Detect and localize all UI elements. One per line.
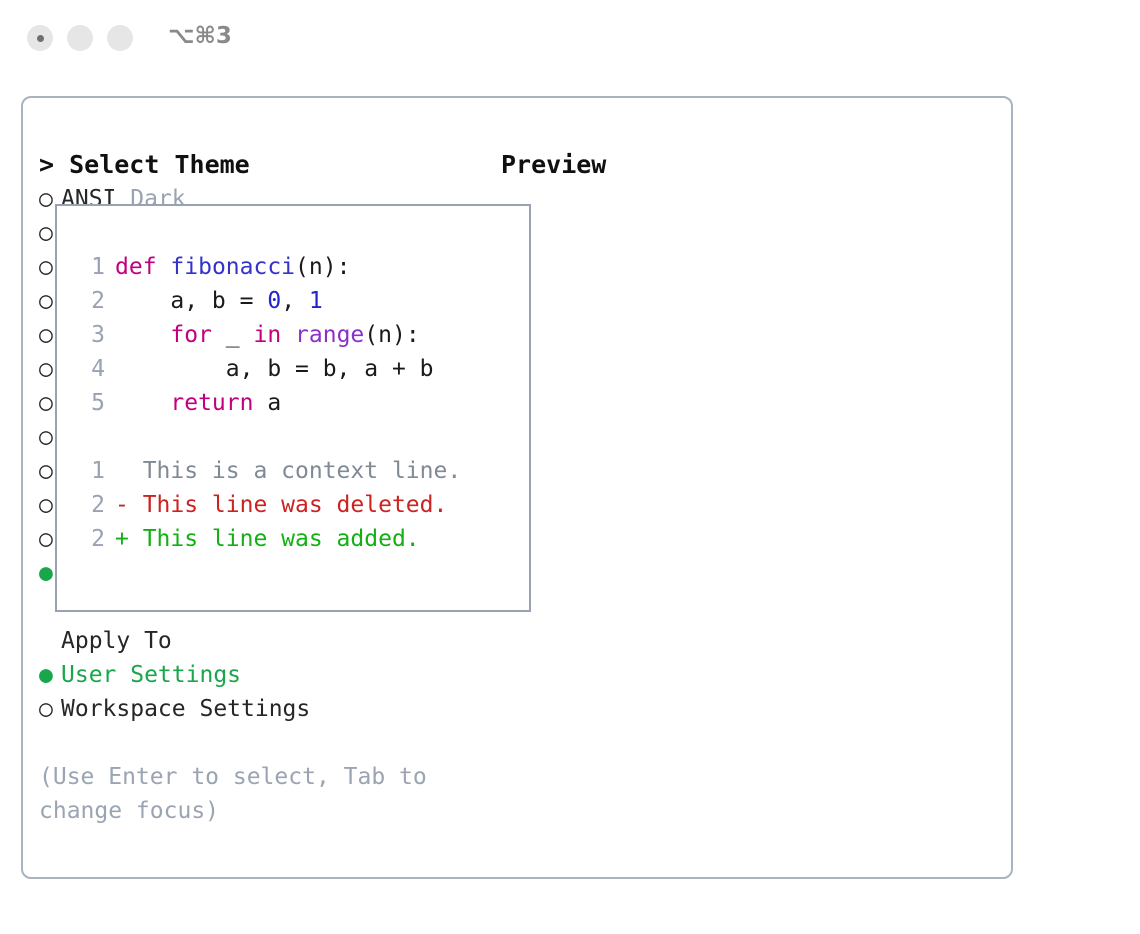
terminal-window: ⌥⌘3 > Select Theme ○ANSI Dark○Atom One D…: [0, 0, 1140, 934]
diff-line-text: + This line was added.: [115, 526, 420, 552]
apply-to-label: Apply To: [39, 624, 479, 658]
diff-line: 1 This is a context line.: [75, 454, 515, 488]
traffic-light-group: [27, 25, 133, 51]
line-number: 2: [75, 284, 105, 318]
line-number: 3: [75, 318, 105, 352]
keyboard-shortcut-label: ⌥⌘3: [168, 23, 232, 49]
code-token: return: [170, 390, 253, 416]
code-token: [115, 322, 170, 348]
code-token: 1: [309, 288, 323, 314]
apply-to-list[interactable]: ●User Settings○Workspace Settings: [39, 658, 479, 726]
code-line: 5 return a: [75, 386, 515, 420]
apply-to-option-row[interactable]: ●User Settings: [39, 658, 479, 692]
line-number: 2: [75, 522, 105, 556]
diff-line: 2+ This line was added.: [75, 522, 515, 556]
apply-to-option-name: Workspace Settings: [61, 696, 310, 722]
diff-line-text: This is a context line.: [115, 458, 461, 484]
page-title: > Select Theme: [39, 148, 479, 182]
preview-column: Preview: [501, 148, 991, 182]
maximize-button-dot[interactable]: [107, 25, 133, 51]
line-number: 5: [75, 386, 105, 420]
code-preview: 1def fibonacci(n):2 a, b = 0, 13 for _ i…: [75, 250, 515, 556]
code-token: range: [295, 322, 364, 348]
close-button-dot[interactable]: [27, 25, 53, 51]
diff-line-text: - This line was deleted.: [115, 492, 447, 518]
line-number: 1: [75, 454, 105, 488]
code-line: 1def fibonacci(n):: [75, 250, 515, 284]
code-token: a, b =: [115, 288, 267, 314]
apply-to-option-row[interactable]: ○Workspace Settings: [39, 692, 479, 726]
code-token: (n):: [364, 322, 419, 348]
code-line: 3 for _ in range(n):: [75, 318, 515, 352]
code-token: [115, 390, 170, 416]
radio-selected-icon: ●: [39, 658, 61, 692]
preview-box: 1def fibonacci(n):2 a, b = 0, 13 for _ i…: [55, 204, 531, 612]
active-indicator-dot: [37, 35, 44, 42]
code-line: 2 a, b = 0, 1: [75, 284, 515, 318]
code-token: _: [212, 322, 254, 348]
theme-selector-panel: > Select Theme ○ANSI Dark○Atom One Dark○…: [21, 96, 1013, 879]
code-line: 4 a, b = b, a + b: [75, 352, 515, 386]
minimize-button-dot[interactable]: [67, 25, 93, 51]
code-token: ,: [281, 288, 309, 314]
code-token: [281, 322, 295, 348]
code-token: fibonacci: [170, 254, 295, 280]
code-token: 0: [267, 288, 281, 314]
code-token: def: [115, 254, 157, 280]
radio-unselected-icon: ○: [39, 692, 61, 726]
code-token: (n):: [295, 254, 350, 280]
line-number: 2: [75, 488, 105, 522]
code-token: in: [253, 322, 281, 348]
code-diff-separator: [75, 420, 515, 454]
diff-line: 2- This line was deleted.: [75, 488, 515, 522]
apply-to-option-name: User Settings: [61, 662, 241, 688]
preview-title: Preview: [501, 148, 991, 182]
line-number: 4: [75, 352, 105, 386]
keyboard-hint-text: (Use Enter to select, Tab to change focu…: [39, 760, 444, 828]
title-bar: ⌥⌘3: [0, 0, 1140, 78]
code-token: a: [253, 390, 281, 416]
code-token: a, b = b, a + b: [115, 356, 434, 382]
code-token: for: [170, 322, 212, 348]
line-number: 1: [75, 250, 105, 284]
code-token: [157, 254, 171, 280]
